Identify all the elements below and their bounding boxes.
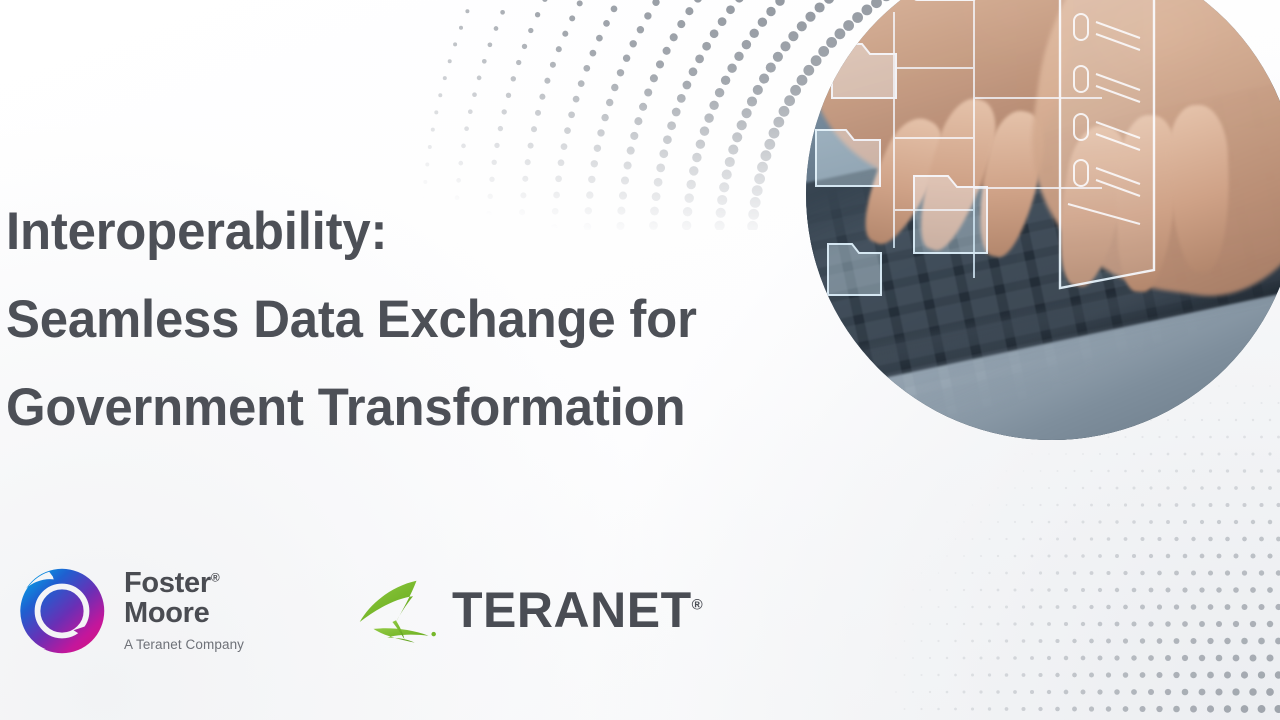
logo-row: Foster® Moore A Teranet Company: [0, 555, 720, 675]
foster-moore-logo: Foster® Moore A Teranet Company: [14, 563, 244, 659]
foster-moore-wordmark: Foster® Moore A Teranet Company: [124, 568, 244, 654]
page-title: Interoperability: Seamless Data Exchange…: [6, 188, 836, 452]
hero-image-circle: [806, 0, 1280, 440]
foster-moore-name-line2: Moore: [124, 598, 244, 628]
digital-overlay-graphic: [806, 0, 1280, 440]
foster-moore-mark-icon: [14, 563, 110, 659]
title-line-3: Government Transformation: [6, 364, 803, 452]
title-line-1: Interoperability:: [6, 188, 803, 276]
title-line-2: Seamless Data Exchange for: [6, 276, 803, 364]
teranet-mark-icon: [358, 577, 444, 643]
teranet-wordmark: TERANET®: [452, 584, 703, 636]
laptop-typing-photo: [806, 0, 1280, 440]
foster-moore-tagline: A Teranet Company: [124, 637, 244, 652]
teranet-logo: TERANET®: [358, 577, 703, 643]
foster-moore-name-line1: Foster®: [124, 568, 244, 598]
presentation-slide: Interoperability: Seamless Data Exchange…: [0, 0, 1280, 720]
